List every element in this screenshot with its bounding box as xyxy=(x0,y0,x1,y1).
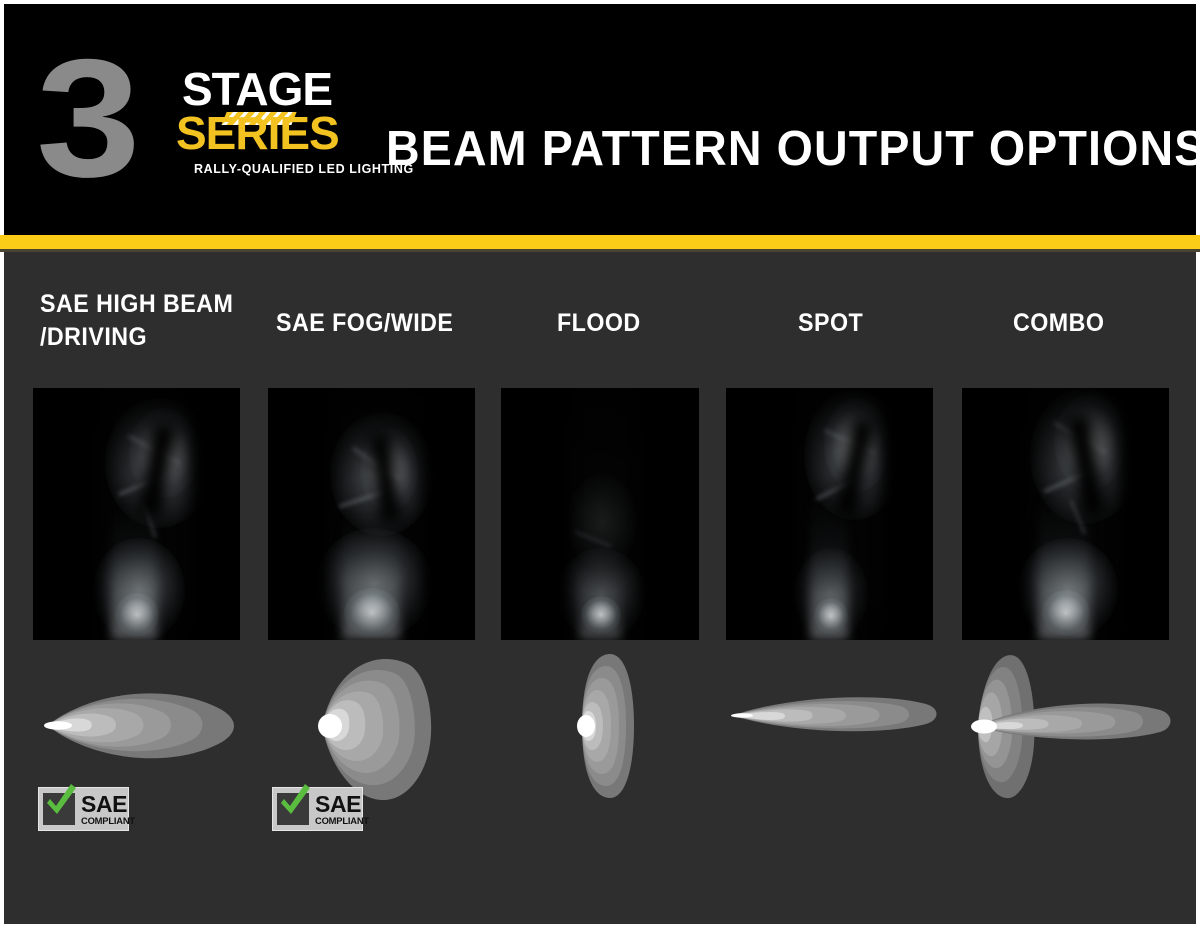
beam-photo-combo xyxy=(962,388,1169,640)
beam-diagram-sae-fog-wide xyxy=(304,648,440,804)
sae-badge-text: SAE COMPLIANT xyxy=(81,793,135,826)
beam-diagram-combo xyxy=(962,648,1178,804)
logo-word-series: SERIES xyxy=(176,110,339,156)
beam-diagram-sae-high-beam-driving xyxy=(26,670,242,780)
header-banner: 3 STAGE SERIES RALLY-QUALIFIED LED LIGHT… xyxy=(4,4,1196,235)
logo-word-stage: STAGE xyxy=(182,66,332,112)
sae-compliant-badge-sae-high-beam-driving: SAE COMPLIANT xyxy=(38,787,129,831)
beam-pattern-infographic: 3 STAGE SERIES RALLY-QUALIFIED LED LIGHT… xyxy=(0,0,1200,933)
sae-compliant-badge-sae-fog-wide: SAE COMPLIANT xyxy=(272,787,363,831)
sae-badge-text: SAE COMPLIANT xyxy=(315,793,369,826)
logo-numeral-3: 3 xyxy=(36,48,134,188)
sae-badge-sub-label: COMPLIANT xyxy=(315,815,369,826)
page-title: BEAM PATTERN OUTPUT OPTIONS xyxy=(386,121,1196,177)
beam-diagram-spot xyxy=(730,684,946,744)
column-label-combo: COMBO xyxy=(1013,307,1171,340)
beam-diagram-flood xyxy=(568,650,640,802)
accent-divider-bar xyxy=(0,235,1200,249)
sae-badge-main-label: SAE xyxy=(315,793,369,815)
column-label-flood: FLOOD xyxy=(557,307,706,340)
column-label-spot: SPOT xyxy=(798,307,947,340)
brand-logo: 3 STAGE SERIES RALLY-QUALIFIED LED LIGHT… xyxy=(36,48,356,188)
logo-tagline: RALLY-QUALIFIED LED LIGHTING xyxy=(194,162,414,176)
sae-badge-main-label: SAE xyxy=(81,793,135,815)
column-label-sae-high-beam-driving: SAE HIGH BEAM /DRIVING xyxy=(40,288,254,354)
sae-checkbox xyxy=(277,793,309,825)
sae-checkbox xyxy=(43,793,75,825)
content-panel: SAE HIGH BEAM /DRIVING SAE FOG/WIDE FLOO… xyxy=(4,252,1196,924)
logo-wordmark: STAGE SERIES RALLY-QUALIFIED LED LIGHTIN… xyxy=(176,66,366,186)
column-label-sae-fog-wide: SAE FOG/WIDE xyxy=(276,307,471,340)
beam-photo-sae-high-beam-driving xyxy=(33,388,240,640)
sae-badge-sub-label: COMPLIANT xyxy=(81,815,135,826)
beam-photo-sae-fog-wide xyxy=(268,388,475,640)
beam-photo-spot xyxy=(726,388,933,640)
beam-photo-flood xyxy=(501,388,699,640)
